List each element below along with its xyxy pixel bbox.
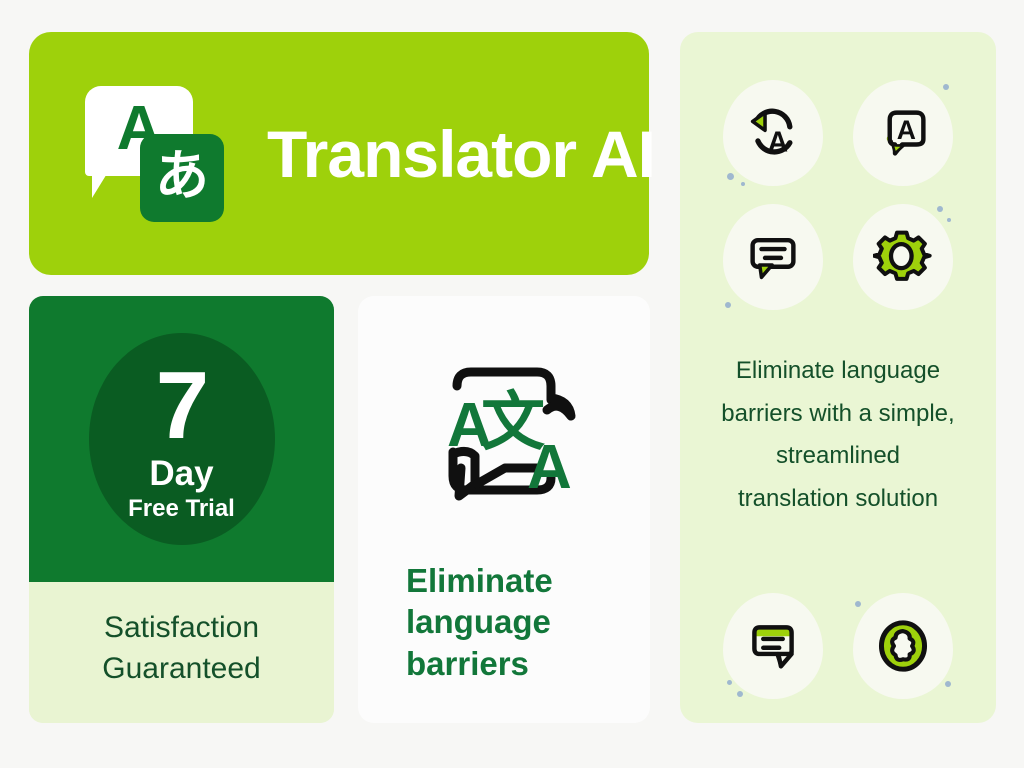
decorative-dot bbox=[737, 691, 743, 697]
side-panel: A A bbox=[680, 32, 996, 723]
side-panel-description-line2: barriers with a simple, bbox=[721, 393, 954, 436]
decorative-dot bbox=[937, 206, 943, 212]
logo-japanese-square: あ bbox=[140, 134, 224, 222]
feature-caption-line2: language bbox=[406, 601, 640, 642]
svg-text:A: A bbox=[768, 127, 788, 159]
satisfaction-caption-line2: Guaranteed bbox=[102, 649, 260, 690]
free-trial-text-group: 7 Day Free Trial bbox=[128, 358, 235, 521]
satisfaction-caption-line1: Satisfaction bbox=[102, 608, 260, 649]
decorative-dot bbox=[943, 84, 949, 90]
satisfaction-caption: Satisfaction Guaranteed bbox=[102, 608, 260, 689]
free-trial-card: 7 Day Free Trial Satisfaction Guaranteed bbox=[29, 296, 334, 723]
header-banner: A あ Translator AI bbox=[29, 32, 649, 275]
free-trial-subtitle: Free Trial bbox=[128, 497, 235, 521]
free-trial-card-top: 7 Day Free Trial bbox=[29, 296, 334, 582]
feature-caption-line1: Eliminate bbox=[406, 560, 640, 601]
decorative-dot bbox=[725, 302, 731, 308]
decorative-dot bbox=[741, 182, 745, 186]
translate-languages-icon: A 文 A bbox=[419, 348, 589, 518]
svg-text:A: A bbox=[527, 433, 572, 502]
side-panel-icon-grid-bottom bbox=[680, 575, 996, 723]
svg-text:A: A bbox=[897, 115, 916, 145]
decorative-dot bbox=[947, 218, 951, 222]
gear-settings-icon[interactable] bbox=[853, 204, 953, 310]
badge-globe-icon[interactable] bbox=[853, 593, 953, 699]
free-trial-unit-label: Day bbox=[128, 456, 235, 491]
feature-caption: Eliminate language barriers bbox=[358, 560, 650, 684]
side-panel-description-line4: translation solution bbox=[721, 478, 954, 521]
chat-lines-icon[interactable] bbox=[723, 593, 823, 699]
translator-logo: A あ bbox=[85, 86, 221, 222]
decorative-dot bbox=[945, 681, 951, 687]
chat-message-icon[interactable] bbox=[723, 204, 823, 310]
decorative-dot bbox=[855, 601, 861, 607]
free-trial-card-bottom: Satisfaction Guaranteed bbox=[29, 582, 334, 723]
side-panel-icon-grid-top: A A bbox=[680, 32, 996, 310]
side-panel-description-line3: streamlined bbox=[721, 435, 954, 478]
side-panel-description-line1: Eliminate language bbox=[721, 350, 954, 393]
free-trial-days-number: 7 bbox=[128, 358, 235, 454]
decorative-dot bbox=[727, 680, 732, 685]
side-panel-description: Eliminate language barriers with a simpl… bbox=[699, 350, 976, 521]
page-title: Translator AI bbox=[267, 116, 655, 192]
swap-language-icon[interactable]: A bbox=[723, 80, 823, 186]
feature-card: A 文 A Eliminate language barriers bbox=[358, 296, 650, 723]
logo-letter-hiragana: あ bbox=[155, 149, 209, 207]
speech-bubble-letter-icon[interactable]: A bbox=[853, 80, 953, 186]
infographic-page: A あ Translator AI 7 Day Free Trial Satis… bbox=[0, 0, 1024, 768]
feature-caption-line3: barriers bbox=[406, 643, 640, 684]
decorative-dot bbox=[727, 173, 734, 180]
